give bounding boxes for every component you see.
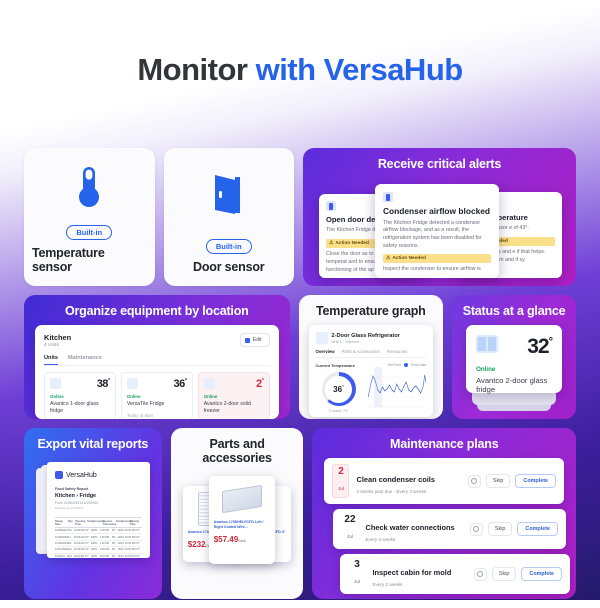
tab-maintenance[interactable]: Maintenance xyxy=(68,355,102,365)
grid-row-1: Built-in Temperature sensor Built-in Doo… xyxy=(24,148,576,286)
gear-inner xyxy=(473,526,479,532)
alert-card-condenser[interactable]: Condenser airflow blocked The Kitchen Fr… xyxy=(375,184,499,278)
panel-grid: Built-in Temperature sensor Built-in Doo… xyxy=(24,148,576,608)
report-table-header: Range Date Day Opening Time Temp Accurac… xyxy=(55,517,142,528)
report-cell: 37° xyxy=(136,536,142,539)
sensor-card-door[interactable]: Built-in Door sensor xyxy=(164,148,295,286)
panel-title-reports: Export vital reports xyxy=(24,428,162,458)
maintenance-month: Jul xyxy=(354,579,360,584)
report-cell: 12/29/2023 xyxy=(55,536,68,539)
maintenance-actions: Skip Complete xyxy=(474,567,562,581)
report-cell: 100% xyxy=(91,555,100,558)
maintenance-day: 3 xyxy=(348,560,365,570)
device-thumbnail xyxy=(316,332,328,344)
temperature-line-chart[interactable]: Set Point Temp Data xyxy=(367,363,427,417)
report-table-body: 12/28/2023Thu10:00 AM37°100%1:00 PM38°10… xyxy=(55,528,142,558)
maintenance-meta: Every 2 weeks xyxy=(365,537,462,542)
device-name: 2-Door Glass Refrigerator xyxy=(332,333,400,339)
panel-equipment: Organize equipment by location Kitchen 4… xyxy=(24,295,290,419)
grid-row-3: Export vital reports VersaHub Food Safet… xyxy=(24,428,576,599)
panel-title-equipment: Organize equipment by location xyxy=(24,295,290,325)
graph-tabs: Overview Parts & Accessories Resources xyxy=(316,349,427,358)
settings-gear-icon[interactable] xyxy=(468,475,481,488)
maintenance-day: 2 xyxy=(333,467,348,477)
col-custom: Custom Timestamp xyxy=(103,520,116,526)
skip-button[interactable]: Skip xyxy=(492,567,517,581)
tab-units[interactable]: Units xyxy=(44,355,58,365)
sensor-badge: Built-in xyxy=(66,225,112,240)
part-image-shelf xyxy=(214,481,270,517)
sensor-label: Door sensor xyxy=(193,260,264,274)
report-cell: 10:00 AM xyxy=(74,542,85,545)
report-cell: 100% xyxy=(91,542,100,545)
report-kicker: Food Safety Report xyxy=(55,487,142,491)
col-opening: Opening Time xyxy=(75,520,87,526)
current-temperature-label: Current Temperature xyxy=(316,363,362,368)
fridge-door-right xyxy=(488,337,496,351)
report-cell: 1:00 PM xyxy=(100,529,112,532)
unit-timestamp: Today at 8am xyxy=(127,413,187,418)
status-badge: Online xyxy=(476,366,552,373)
report-cell: 10:00 PM xyxy=(125,555,136,558)
part-price: $57.49Each xyxy=(214,535,270,544)
skip-button[interactable]: Skip xyxy=(486,474,511,488)
report-cell: 1/1/2024 xyxy=(55,555,67,558)
device-identity: 2-Door Glass Refrigerator Unit 1 · Kitch… xyxy=(332,333,400,344)
report-cell: 10:00 PM xyxy=(125,536,136,539)
maintenance-date: 3 Jul xyxy=(348,560,365,588)
report-range: From 12/28/2023 to 1/19/2024 xyxy=(55,501,142,505)
report-cell: 100% xyxy=(117,555,124,558)
alert-flag-label: Action Needed xyxy=(392,256,426,261)
panel-alerts: Receive critical alerts Open door detect… xyxy=(303,148,576,286)
status-card-stack: 32° Online Avantco 2-door glass fridge xyxy=(466,325,562,413)
page-header: Monitor with VersaHub xyxy=(0,0,600,88)
unit-top: 36° xyxy=(127,378,187,390)
report-cell: 1:00 PM xyxy=(100,555,112,558)
report-cell: 12/30/2023 xyxy=(55,542,68,545)
unit-status: Online xyxy=(204,394,264,399)
door-icon xyxy=(209,148,249,239)
skip-button[interactable]: Skip xyxy=(488,522,513,536)
graph-card: 2-Door Glass Refrigerator Unit 1 · Kitch… xyxy=(309,325,434,417)
panel-title-graph: Temperature graph xyxy=(299,295,444,325)
report-cell: 10:00 AM xyxy=(74,555,85,558)
sensor-badge: Built-in xyxy=(206,239,252,254)
sensor-card-temperature[interactable]: Built-in Temperature sensor xyxy=(24,148,155,286)
unit-name: Avantco 2-door solid freezer xyxy=(204,401,264,415)
unit-status: Online xyxy=(50,394,110,399)
panel-title-maintenance: Maintenance plans xyxy=(312,428,576,458)
col-closing: Closing Time xyxy=(130,520,142,526)
unit-temperature: 38° xyxy=(97,378,110,390)
complete-button[interactable]: Complete xyxy=(521,567,562,581)
unit-list: 38° Online Avantco 1-door glass fridge 3… xyxy=(44,372,270,419)
maintenance-month: Jul xyxy=(347,534,353,539)
col-range-date: Range Date xyxy=(55,520,68,526)
report-table: Range Date Day Opening Time Temp Accurac… xyxy=(55,517,142,558)
unit-name: Avantco 1-door glass fridge xyxy=(50,401,110,415)
report-cell: 100% xyxy=(91,536,100,539)
report-document[interactable]: VersaHub Food Safety Report Kitchen › Fr… xyxy=(47,462,150,558)
report-cell: 37° xyxy=(136,548,142,551)
col-accuracy-1: Accuracy xyxy=(93,520,103,526)
alert-flag-body: Inspect the condenser to ensure airflow … xyxy=(383,266,491,274)
settings-gear-icon[interactable] xyxy=(470,523,483,536)
location-identity: Kitchen 4 Units xyxy=(44,333,71,348)
maintenance-text: Check water connections Every 2 weeks xyxy=(365,517,462,542)
report-cell: 100% xyxy=(91,529,100,532)
report-cell: 12/28/2023 xyxy=(55,529,68,532)
unit-thumbnail xyxy=(50,378,61,389)
part-name: Avantco 178SHELFCFD Left / Right Coated … xyxy=(214,520,270,530)
graph-body: Current Temperature 36° Current: 7/2 34°… xyxy=(316,363,427,417)
report-cell: 1:00 PM xyxy=(100,542,112,545)
current-temperature-panel: Current Temperature 36° Current: 7/2 34°… xyxy=(316,363,362,417)
maintenance-date: 22 Jul xyxy=(341,515,358,543)
maintenance-text: Inspect cabin for mold Every 2 weeks xyxy=(372,562,466,587)
warning-icon: ⚠ xyxy=(386,256,390,261)
location-unit-count: 4 Units xyxy=(44,343,71,348)
page-title: Monitor with VersaHub xyxy=(0,52,600,88)
report-cell: 10:00 AM xyxy=(74,548,85,551)
location-name: Kitchen xyxy=(44,333,71,342)
maintenance-actions: Skip Complete xyxy=(470,522,558,536)
unit-card[interactable]: 38° Online Avantco 1-door glass fridge xyxy=(44,372,116,419)
gear-inner xyxy=(471,478,477,484)
maintenance-actions: Skip Complete xyxy=(468,474,556,488)
tab-parts[interactable]: Parts & Accessories xyxy=(342,349,380,354)
gauge-caption: Current: 7/2 xyxy=(316,409,362,413)
panel-title-status: Status at a glance xyxy=(452,295,576,325)
panel-reports: Export vital reports VersaHub Food Safet… xyxy=(24,428,162,599)
sensor-card-group: Built-in Temperature sensor Built-in Doo… xyxy=(24,148,294,286)
tab-resources[interactable]: Resources xyxy=(387,349,408,354)
alert-device-icon xyxy=(326,201,336,211)
maintenance-list: 2 Jul Clean condenser coils 2 weeks past… xyxy=(324,458,564,594)
parts-card-stack: Avantco 178 T Pin Kit $232Each Avantco 1… xyxy=(181,474,294,570)
report-cell: 100% xyxy=(118,548,125,551)
fridge-thumbnail-icon xyxy=(476,335,498,353)
alert-body: The Kitchen Fridge detected a condenser … xyxy=(383,220,491,251)
unit-top: 2° xyxy=(204,378,264,390)
edit-label: Edit xyxy=(253,337,262,343)
report-cell: 10:00 PM xyxy=(125,542,136,545)
report-cell: 1:00 PM xyxy=(100,536,112,539)
report-meta: Exported on 1/19/2024 xyxy=(55,506,142,510)
alert-flag-label: Action Needed xyxy=(335,241,369,246)
complete-button[interactable]: Complete xyxy=(517,522,558,536)
warning-icon: ⚠ xyxy=(329,241,333,246)
grid-row-2: Organize equipment by location Kitchen 4… xyxy=(24,295,576,419)
location-card: Kitchen 4 Units Edit Units Maintenance xyxy=(35,325,279,419)
report-table-row: 1/1/2024Mon10:00 AM37°100%1:00 PM38°100%… xyxy=(55,554,142,559)
unit-top: 38° xyxy=(50,378,110,390)
unit-thumbnail xyxy=(204,378,215,389)
location-tabs: Units Maintenance xyxy=(44,355,270,366)
unit-status: Online xyxy=(127,394,187,399)
report-cell: 37° xyxy=(136,529,142,532)
maintenance-meta: 2 weeks past due · Every 3 weeks xyxy=(356,489,460,494)
panel-title-parts: Parts and accessories xyxy=(171,428,304,472)
maintenance-meta: Every 2 weeks xyxy=(372,582,466,587)
maintenance-row[interactable]: 3 Jul Inspect cabin for mold Every 2 wee… xyxy=(340,554,570,594)
unit-name: VersaTile Fridge xyxy=(127,401,187,408)
fridge-door-left xyxy=(478,337,486,351)
logo-wordmark: VersaHub xyxy=(66,472,97,479)
graph-device-header: 2-Door Glass Refrigerator Unit 1 · Kitch… xyxy=(316,332,427,344)
versahub-logo: VersaHub xyxy=(55,471,142,479)
report-cell: 10:00 AM xyxy=(74,529,85,532)
gear-inner xyxy=(477,571,483,577)
sensor-label: Temperature sensor xyxy=(32,246,147,274)
maintenance-task: Clean condenser coils xyxy=(356,475,434,484)
report-cell: 100% xyxy=(118,536,125,539)
panel-status: Status at a glance 32° xyxy=(452,295,576,419)
logo-mark-icon xyxy=(55,471,63,479)
maintenance-date: 2 Jul xyxy=(332,464,349,498)
panel-maintenance: Maintenance plans 2 Jul Clean condenser … xyxy=(312,428,576,599)
pencil-icon xyxy=(245,338,250,343)
unit-thumbnail xyxy=(127,378,138,389)
alert-card-stack: Open door detected The Kitchen Fridge d … xyxy=(303,178,576,274)
report-cell: 100% xyxy=(118,529,125,532)
chart-svg xyxy=(367,367,427,411)
unit-temperature: 36° xyxy=(174,378,187,390)
infographic-page: Monitor with VersaHub Built-in Temperatu… xyxy=(0,0,600,600)
unit-temperature: 2° xyxy=(256,378,264,390)
report-cell: 1:00 PM xyxy=(100,548,112,551)
thermometer-icon xyxy=(72,148,106,225)
tab-overview[interactable]: Overview xyxy=(316,349,335,354)
report-cell: 10:00 PM xyxy=(125,529,136,532)
maintenance-day: 22 xyxy=(341,515,358,525)
maintenance-text: Clean condenser coils 2 weeks past due ·… xyxy=(356,469,460,494)
settings-gear-icon[interactable] xyxy=(474,568,487,581)
report-stack: VersaHub Food Safety Report Kitchen › Fr… xyxy=(36,462,150,558)
report-title: Kitchen › Fridge xyxy=(55,493,142,499)
maintenance-task: Check water connections xyxy=(365,523,454,532)
status-card[interactable]: 32° Online Avantco 2-door glass fridge xyxy=(466,325,562,393)
report-cell: 37° xyxy=(136,542,142,545)
shelf-icon xyxy=(222,485,262,513)
report-cell: 10:00 PM xyxy=(125,548,136,551)
panel-temperature-graph: Temperature graph 2-Door Glass Refrigera… xyxy=(299,295,444,419)
complete-button[interactable]: Complete xyxy=(515,474,556,488)
col-day: Day xyxy=(68,520,75,526)
unit-card[interactable]: 36° Online VersaTile Fridge Today at 8am xyxy=(121,372,193,419)
alert-heading: Condenser airflow blocked xyxy=(383,206,491,217)
gauge-value: 36° xyxy=(333,384,344,394)
alert-action-flag: ⚠ Action Needed xyxy=(383,254,491,263)
alert-device-icon xyxy=(383,192,393,202)
unit-card[interactable]: 2° Online Avantco 2-door solid freezer H… xyxy=(198,372,270,419)
maintenance-row[interactable]: 22 Jul Check water connections Every 2 w… xyxy=(333,509,566,549)
report-cell: 10:00 AM xyxy=(74,536,85,539)
maintenance-task: Inspect cabin for mold xyxy=(372,568,451,577)
temperature-gauge: 36° xyxy=(322,372,356,406)
maintenance-row[interactable]: 2 Jul Clean condenser coils 2 weeks past… xyxy=(324,458,564,504)
report-cell: 37° xyxy=(136,555,142,558)
status-device-name: Avantco 2-door glass fridge xyxy=(476,376,552,394)
report-cell: 12/31/2023 xyxy=(55,548,68,551)
panel-parts: Parts and accessories Avantco 178 T Pin … xyxy=(171,428,304,599)
col-accuracy-2: Accuracy xyxy=(122,520,130,526)
status-temperature: 32° xyxy=(527,335,552,359)
page-title-dark: Monitor xyxy=(137,52,247,87)
location-header: Kitchen 4 Units Edit xyxy=(44,333,270,348)
maintenance-month: Jul xyxy=(338,486,344,491)
device-location: Unit 1 · Kitchen xyxy=(332,339,400,344)
report-cell: 100% xyxy=(91,548,100,551)
edit-location-button[interactable]: Edit xyxy=(240,333,270,347)
status-card-top: 32° xyxy=(476,335,552,359)
page-title-accent: with VersaHub xyxy=(256,52,463,87)
part-card[interactable]: Avantco 178SHELFCFD Left / Right Coated … xyxy=(209,476,275,564)
panel-title-alerts: Receive critical alerts xyxy=(303,148,576,178)
report-cell: 100% xyxy=(118,542,125,545)
